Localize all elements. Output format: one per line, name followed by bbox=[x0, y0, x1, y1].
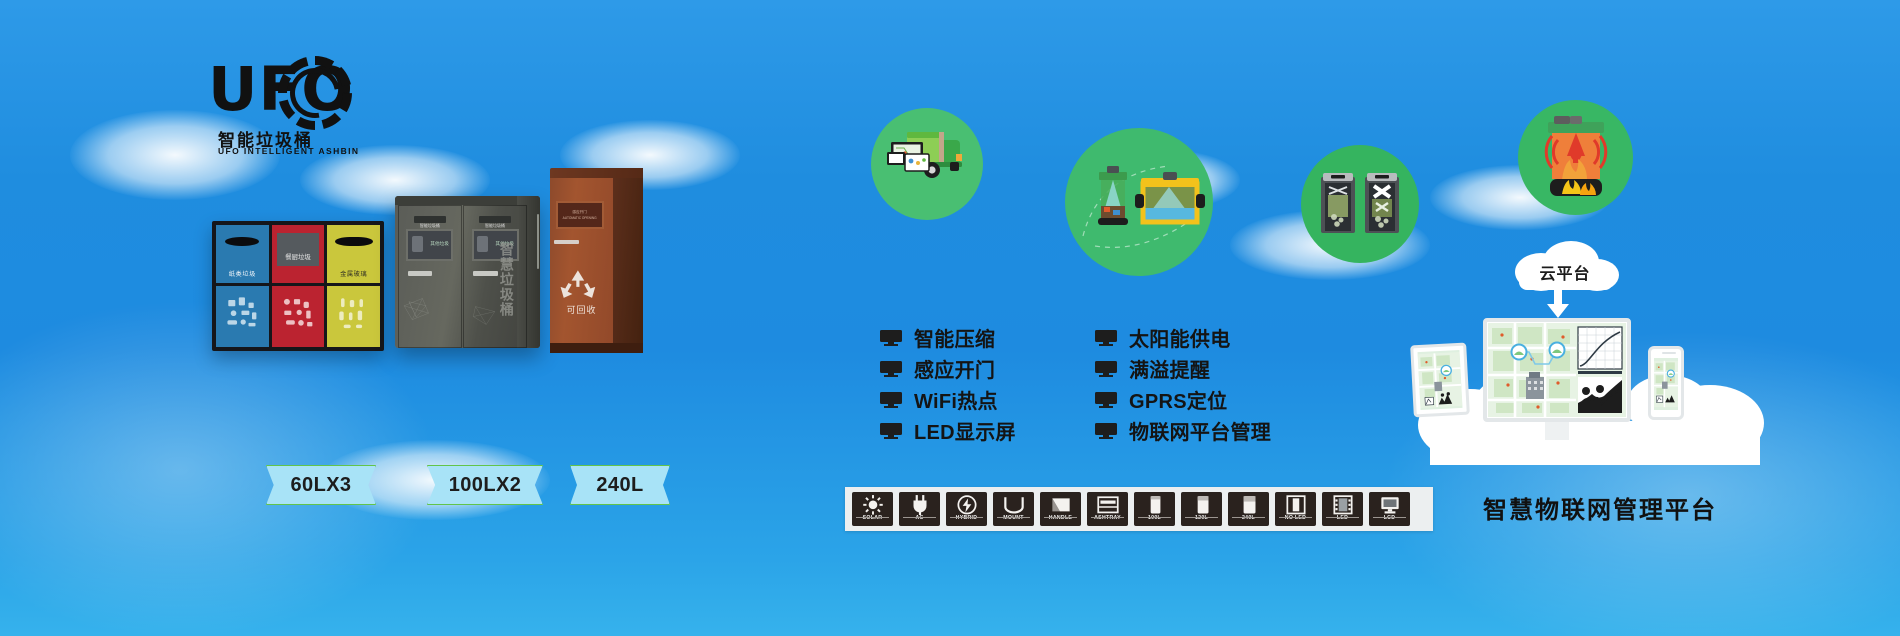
feature-item: 太阳能供电 bbox=[1095, 322, 1271, 353]
spec-100l: 100L bbox=[1134, 492, 1175, 526]
tablet-screen bbox=[1418, 350, 1463, 410]
bin-compartment-label: 餐厨垃圾 bbox=[272, 252, 325, 261]
garbage-truck-monitoring-icon bbox=[871, 108, 983, 220]
spec-label: LED bbox=[1337, 515, 1348, 521]
iot-platform-illustration: 云平台 bbox=[1410, 240, 1790, 540]
monitor-neck bbox=[1545, 422, 1569, 440]
monitor-base bbox=[1523, 440, 1591, 447]
spec-label: NO LED bbox=[1285, 515, 1306, 521]
bin-door-right: 智能垃圾桶 其他垃圾 bbox=[463, 205, 527, 348]
wall-mount-icon bbox=[1001, 495, 1027, 514]
bin-100l-icon bbox=[1142, 495, 1168, 514]
feature-item: 满溢提醒 bbox=[1095, 353, 1271, 384]
spec-120l: 120L bbox=[1181, 492, 1222, 526]
bin-side-text: 智慧垃圾桶 bbox=[499, 242, 514, 317]
spec-label: SOLAR bbox=[863, 515, 883, 521]
feature-item: 智能压缩 bbox=[880, 322, 1016, 353]
logo-en-name: UFO INTELLIGENT ASHBIN bbox=[218, 146, 359, 156]
bin-compartment-kitchen: 餐厨垃圾 bbox=[272, 225, 325, 347]
bin-window: 其他垃圾 bbox=[406, 229, 453, 261]
spec-lcd: LCD bbox=[1369, 492, 1410, 526]
spec-no-led: NO LED bbox=[1275, 492, 1316, 526]
handle-icon bbox=[1048, 495, 1074, 514]
bin-120l-icon bbox=[1189, 495, 1215, 514]
monitor-bullet-icon bbox=[1095, 423, 1117, 439]
window-line-1: 感应开门 bbox=[558, 210, 602, 215]
feature-label: 太阳能供电 bbox=[1129, 323, 1231, 352]
feature-label: 智能压缩 bbox=[914, 323, 995, 352]
feature-label: GPRS定位 bbox=[1129, 385, 1227, 414]
bin-handle bbox=[554, 240, 579, 244]
spec-label: 120L bbox=[1195, 515, 1208, 521]
waste-compaction-icon bbox=[1301, 145, 1419, 263]
spec-label: AC bbox=[915, 515, 923, 521]
monitor-bullet-icon bbox=[880, 423, 902, 439]
spec-led: LED bbox=[1322, 492, 1363, 526]
waste-pictogram bbox=[216, 286, 269, 339]
capacity-label: 100LX2 bbox=[449, 474, 521, 497]
bin-slot bbox=[225, 237, 259, 246]
spec-icon-strip: SOLAR AC HYBRID MOUNT HANDLE ASHTRAY 100… bbox=[845, 487, 1433, 531]
bin-fill-level-sensor-icon bbox=[1065, 128, 1213, 276]
smartphone-device bbox=[1648, 346, 1684, 420]
feature-circle-compaction bbox=[1301, 145, 1419, 263]
product-dual-smart-bin: 智能垃圾桶 其他垃圾 智能垃圾桶 其他垃圾 bbox=[395, 196, 540, 348]
monitor-bullet-icon bbox=[880, 361, 902, 377]
bin-compartment-paper: 纸类垃圾 bbox=[216, 225, 269, 347]
feature-label: 物联网平台管理 bbox=[1129, 416, 1271, 445]
desktop-monitor bbox=[1483, 318, 1631, 422]
sun-icon bbox=[860, 495, 886, 514]
spec-240l: 240L bbox=[1228, 492, 1269, 526]
feature-label: 满溢提醒 bbox=[1129, 354, 1210, 383]
bin-side-window bbox=[537, 214, 539, 269]
spec-mount: MOUNT bbox=[993, 492, 1034, 526]
window-label: 其他垃圾 bbox=[430, 241, 448, 247]
fire-detection-alarm-icon bbox=[1518, 100, 1633, 215]
brand-logo: UFO 智能垃圾桶 UFO INTELLIGENT ASHBIN bbox=[198, 52, 398, 162]
feature-item: GPRS定位 bbox=[1095, 384, 1271, 415]
bin-compartment-label: 纸类垃圾 bbox=[216, 269, 269, 278]
bin-handle bbox=[473, 271, 498, 276]
spec-solar: SOLAR bbox=[852, 492, 893, 526]
feature-label: 感应开门 bbox=[914, 354, 995, 383]
cloud-label: 云平台 bbox=[1505, 260, 1625, 284]
monitor-bullet-icon bbox=[1095, 330, 1117, 346]
feature-label: WiFi热点 bbox=[914, 385, 998, 414]
lcd-icon bbox=[1377, 495, 1403, 514]
capacity-label: 60LX3 bbox=[291, 474, 352, 497]
spec-label: MOUNT bbox=[1003, 515, 1024, 521]
feature-label: LED显示屏 bbox=[914, 416, 1016, 445]
capacity-label: 240L bbox=[596, 474, 643, 497]
feature-circle-fill-level bbox=[1065, 128, 1213, 276]
bin-compartment-metal-glass: 金属玻璃 bbox=[327, 225, 380, 347]
led-strip bbox=[479, 216, 511, 223]
feature-column-right: 太阳能供电 满溢提醒 GPRS定位 物联网平台管理 bbox=[1095, 322, 1271, 446]
promo-banner: UFO 智能垃圾桶 UFO INTELLIGENT ASHBIN 纸类垃圾 bbox=[0, 0, 1900, 636]
bin-info-panel bbox=[277, 233, 319, 266]
monitor-bullet-icon bbox=[880, 392, 902, 408]
product-single-brown-bin: 感应开门 AUTOMATIC OPENING 可回收 bbox=[550, 168, 643, 353]
bin-slot bbox=[335, 237, 373, 246]
phone-screen bbox=[1654, 358, 1678, 410]
spec-label: 100L bbox=[1148, 515, 1161, 521]
spec-label: HANDLE bbox=[1049, 515, 1072, 521]
spec-label: HYBRID bbox=[956, 515, 978, 521]
phone-speaker bbox=[1662, 352, 1676, 354]
feature-item: WiFi热点 bbox=[880, 384, 1016, 415]
capacity-banner-240l: 240L bbox=[570, 465, 670, 505]
window-line-2: AUTOMATIC OPENING bbox=[558, 216, 602, 220]
feature-item: LED显示屏 bbox=[880, 415, 1016, 446]
capacity-banner-100lx2: 100LX2 bbox=[427, 465, 543, 505]
spec-label: 240L bbox=[1242, 515, 1255, 521]
feature-item: 感应开门 bbox=[880, 353, 1016, 384]
ashtray-icon bbox=[1095, 495, 1121, 514]
hybrid-power-icon bbox=[954, 495, 980, 514]
monitor-bullet-icon bbox=[1095, 392, 1117, 408]
monitor-bullet-icon bbox=[1095, 361, 1117, 377]
led-strip bbox=[414, 216, 446, 223]
waste-pictogram bbox=[327, 286, 380, 339]
platform-title: 智慧物联网管理平台 bbox=[1410, 490, 1790, 525]
monitor-screen bbox=[1488, 323, 1626, 417]
spec-ac: AC bbox=[899, 492, 940, 526]
product-triple-recycling-bin: 纸类垃圾 餐 bbox=[212, 221, 384, 351]
bin-window: 感应开门 AUTOMATIC OPENING bbox=[556, 201, 604, 229]
recycle-label: 可回收 bbox=[550, 303, 613, 316]
recycle-icon bbox=[559, 268, 597, 303]
polygon-graphic bbox=[400, 274, 441, 342]
power-plug-icon bbox=[907, 495, 933, 514]
tablet-device bbox=[1410, 343, 1470, 418]
spec-label: LCD bbox=[1384, 515, 1396, 521]
no-led-icon bbox=[1283, 495, 1309, 514]
feature-item: 物联网平台管理 bbox=[1095, 415, 1271, 446]
bin-240l-icon bbox=[1236, 495, 1262, 514]
bin-compartment-label: 金属玻璃 bbox=[327, 269, 380, 278]
bin-door-left: 智能垃圾桶 其他垃圾 bbox=[398, 205, 462, 348]
spec-handle: HANDLE bbox=[1040, 492, 1081, 526]
spec-ashtray: ASHTRAY bbox=[1087, 492, 1128, 526]
spec-hybrid: HYBRID bbox=[946, 492, 987, 526]
spec-label: ASHTRAY bbox=[1094, 515, 1121, 521]
download-arrow-icon bbox=[1543, 290, 1573, 320]
feature-circle-fleet-dispatch bbox=[871, 108, 983, 220]
led-icon bbox=[1330, 495, 1356, 514]
feature-column-left: 智能压缩 感应开门 WiFi热点 LED显示屏 bbox=[880, 322, 1016, 446]
waste-pictogram bbox=[272, 286, 325, 339]
monitor-bullet-icon bbox=[880, 330, 902, 346]
capacity-banner-60lx3: 60LX3 bbox=[266, 465, 376, 505]
feature-circle-fire-alarm bbox=[1518, 100, 1633, 215]
